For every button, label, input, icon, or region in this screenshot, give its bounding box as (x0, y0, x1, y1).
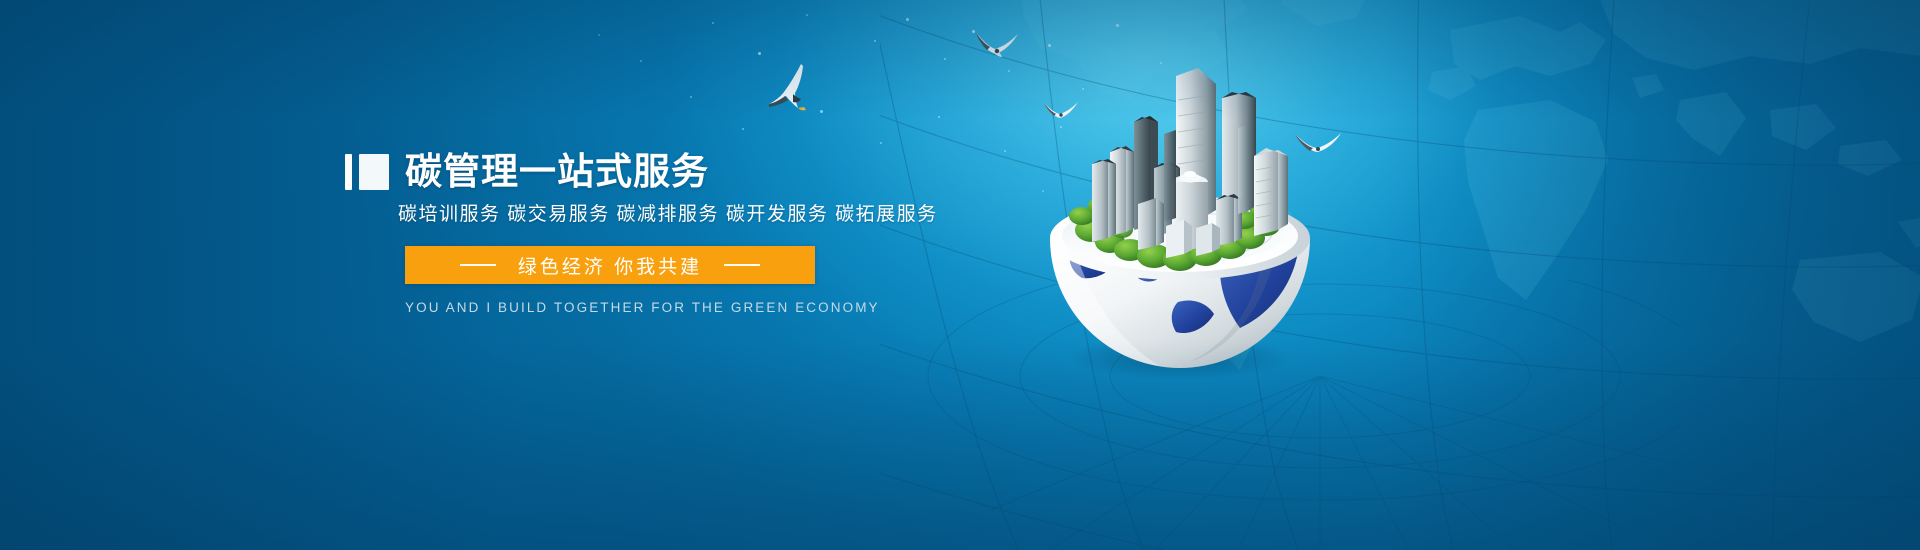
headline-row: 碳管理一站式服务 (345, 150, 965, 194)
logo-block-shape (359, 154, 389, 190)
page-title: 碳管理一站式服务 (405, 152, 709, 192)
services-list: 碳培训服务 碳交易服务 碳减排服务 碳开发服务 碳拓展服务 (398, 203, 965, 227)
hero-banner: 碳管理一站式服务 碳培训服务 碳交易服务 碳减排服务 碳开发服务 碳拓展服务 绿… (0, 0, 1920, 550)
bar-block-logo-icon (345, 154, 389, 190)
slogan-dash-right-icon (724, 264, 760, 266)
english-tagline: YOU AND I BUILD TOGETHER FOR THE GREEN E… (405, 300, 965, 315)
slogan-text: 绿色经济 你我共建 (518, 252, 702, 279)
slogan-dash-left-icon (460, 264, 496, 266)
slogan-banner: 绿色经济 你我共建 (405, 246, 815, 284)
logo-bar-shape (345, 154, 352, 190)
banner-content: 碳管理一站式服务 碳培训服务 碳交易服务 碳减排服务 碳开发服务 碳拓展服务 绿… (345, 150, 965, 315)
